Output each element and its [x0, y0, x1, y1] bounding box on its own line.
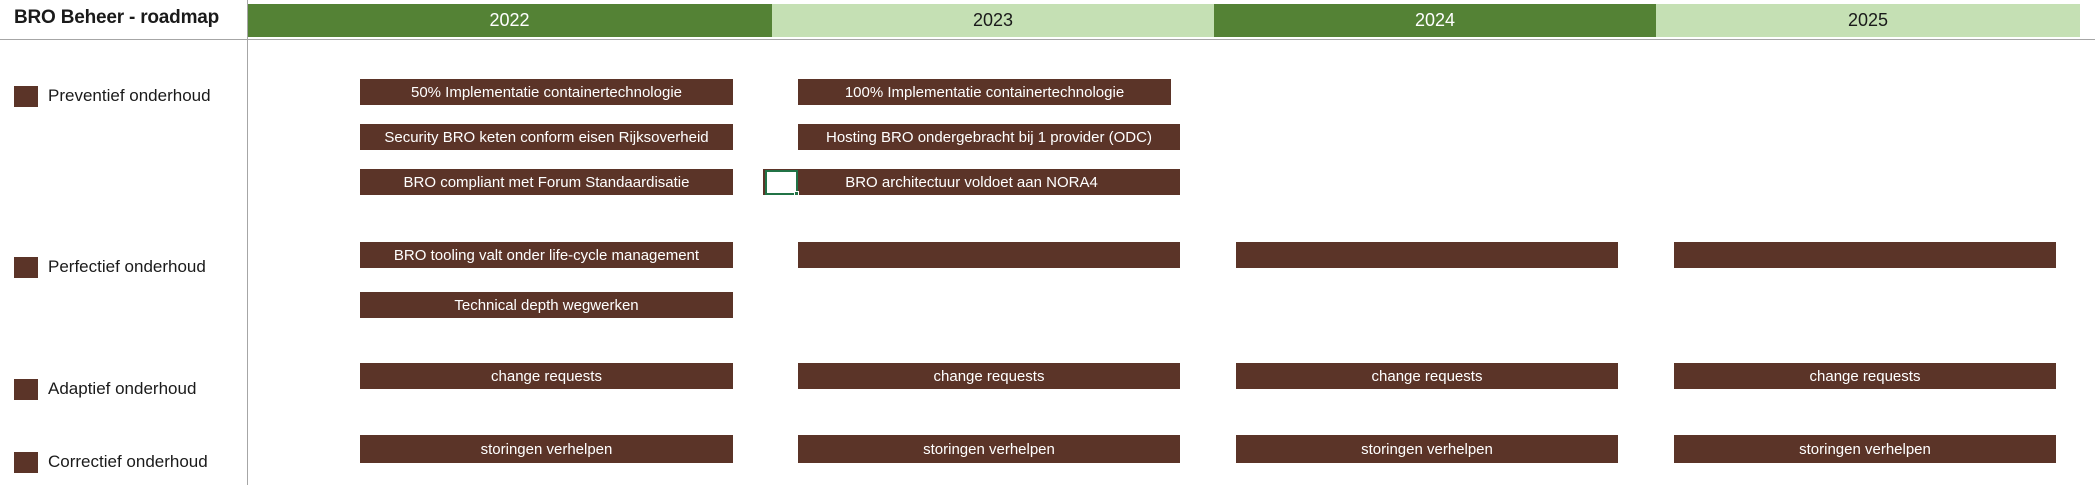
- task-bar-label: BRO compliant met Forum Standaardisatie: [404, 174, 690, 191]
- fill-handle-icon[interactable]: [794, 191, 799, 196]
- legend-swatch-icon: [14, 86, 38, 107]
- task-bar[interactable]: [1236, 242, 1618, 268]
- year-header-2022[interactable]: 2022: [247, 4, 772, 37]
- category-label: Preventief onderhoud: [48, 86, 211, 106]
- task-bar-label: 100% Implementatie containertechnologie: [845, 84, 1124, 101]
- task-bar-label: BRO architectuur voldoet aan NORA4: [845, 174, 1098, 191]
- task-bar[interactable]: 100% Implementatie containertechnologie: [798, 79, 1171, 105]
- task-bar-label: 50% Implementatie containertechnologie: [411, 84, 682, 101]
- task-bar-label: storingen verhelpen: [923, 441, 1055, 458]
- category-label: Adaptief onderhoud: [48, 379, 196, 399]
- category-row-4[interactable]: Correctief onderhoud: [14, 450, 208, 474]
- category-row-3[interactable]: Adaptief onderhoud: [14, 377, 196, 401]
- task-bar-label: Hosting BRO ondergebracht bij 1 provider…: [826, 129, 1152, 146]
- task-bar[interactable]: BRO architectuur voldoet aan NORA4: [763, 169, 1180, 195]
- year-label: 2024: [1415, 10, 1455, 31]
- task-bar[interactable]: change requests: [360, 363, 733, 389]
- task-bar[interactable]: change requests: [798, 363, 1180, 389]
- task-bar-label: storingen verhelpen: [481, 441, 613, 458]
- year-label: 2023: [973, 10, 1013, 31]
- year-header-2023[interactable]: 2023: [772, 4, 1214, 37]
- category-label: Correctief onderhoud: [48, 452, 208, 472]
- legend-swatch-icon: [14, 379, 38, 400]
- task-bar-label: BRO tooling valt onder life-cycle manage…: [394, 247, 699, 264]
- roadmap-canvas: BRO Beheer - roadmap 2022202320242025 Pr…: [0, 0, 2095, 485]
- task-bar-label: change requests: [1372, 368, 1483, 385]
- task-bar-label: storingen verhelpen: [1799, 441, 1931, 458]
- task-bar[interactable]: 50% Implementatie containertechnologie: [360, 79, 733, 105]
- category-row-1[interactable]: Preventief onderhoud: [14, 84, 211, 108]
- year-label: 2022: [489, 10, 529, 31]
- year-header-2024[interactable]: 2024: [1214, 4, 1656, 37]
- task-bar[interactable]: storingen verhelpen: [1236, 435, 1618, 463]
- legend-swatch-icon: [14, 452, 38, 473]
- category-row-2[interactable]: Perfectief onderhoud: [14, 255, 206, 279]
- header-divider: [0, 39, 2095, 40]
- task-bar-label: Security BRO keten conform eisen Rijksov…: [384, 129, 708, 146]
- year-header-2025[interactable]: 2025: [1656, 4, 2080, 37]
- task-bar[interactable]: [798, 242, 1180, 268]
- task-bar[interactable]: storingen verhelpen: [1674, 435, 2056, 463]
- category-label: Perfectief onderhoud: [48, 257, 206, 277]
- task-bar-label: storingen verhelpen: [1361, 441, 1493, 458]
- task-bar-label: change requests: [934, 368, 1045, 385]
- task-bar-label: change requests: [1810, 368, 1921, 385]
- task-bar[interactable]: Technical depth wegwerken: [360, 292, 733, 318]
- task-bar[interactable]: storingen verhelpen: [360, 435, 733, 463]
- task-bar[interactable]: BRO compliant met Forum Standaardisatie: [360, 169, 733, 195]
- selected-cell-marker[interactable]: [765, 170, 798, 195]
- year-label: 2025: [1848, 10, 1888, 31]
- task-bar[interactable]: change requests: [1236, 363, 1618, 389]
- task-bar[interactable]: [1674, 242, 2056, 268]
- task-bar[interactable]: Hosting BRO ondergebracht bij 1 provider…: [798, 124, 1180, 150]
- roadmap-header: BRO Beheer - roadmap 2022202320242025: [0, 0, 2095, 39]
- task-bar-label: change requests: [491, 368, 602, 385]
- task-bar[interactable]: BRO tooling valt onder life-cycle manage…: [360, 242, 733, 268]
- legend-swatch-icon: [14, 257, 38, 278]
- task-bar-label: Technical depth wegwerken: [454, 297, 638, 314]
- task-bar[interactable]: Security BRO keten conform eisen Rijksov…: [360, 124, 733, 150]
- page-title: BRO Beheer - roadmap: [14, 7, 219, 29]
- task-bar[interactable]: change requests: [1674, 363, 2056, 389]
- label-column-divider: [247, 0, 248, 485]
- task-bar[interactable]: storingen verhelpen: [798, 435, 1180, 463]
